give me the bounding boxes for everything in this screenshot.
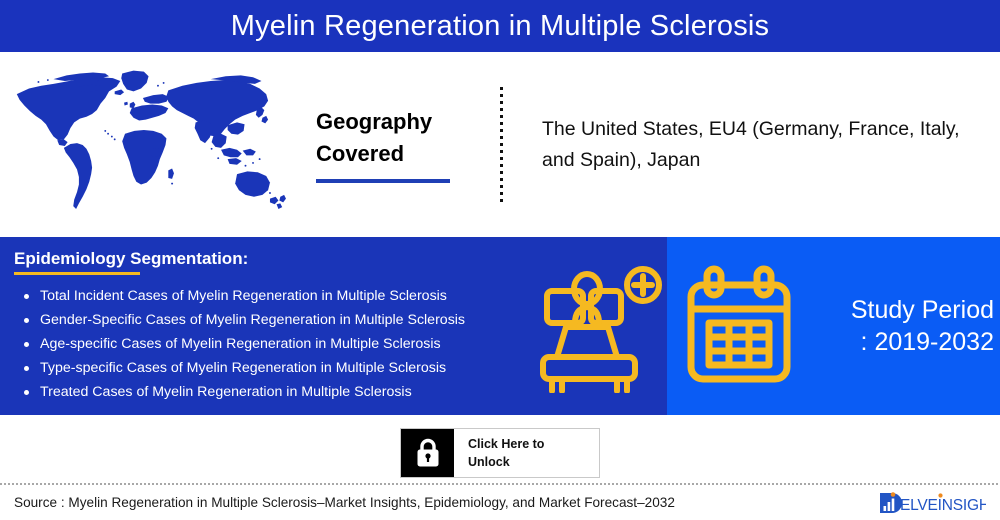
geography-label-underline: [316, 179, 450, 183]
calendar-icon: [683, 265, 795, 387]
footer: Source : Myelin Regeneration in Multiple…: [0, 485, 1000, 520]
logo-wordmark: ELVEINSIGHT: [900, 497, 986, 514]
header-bar: Myelin Regeneration in Multiple Sclerosi…: [0, 0, 1000, 52]
page-title: Myelin Regeneration in Multiple Sclerosi…: [231, 10, 770, 43]
unlock-button-label[interactable]: Click Here to Unlock: [454, 429, 599, 477]
geography-label-line2: Covered: [316, 141, 404, 166]
world-map-icon: [4, 62, 294, 227]
geography-section: Geography Covered The United States, EU4…: [0, 52, 1000, 237]
epidemiology-heading: Epidemiology Segmentation:: [14, 249, 248, 269]
geography-label: Geography Covered: [316, 106, 432, 170]
infographic-root: Myelin Regeneration in Multiple Sclerosi…: [0, 0, 1000, 520]
study-period-line2: : 2019-2032: [861, 328, 994, 356]
patient-in-hospital-bed-icon: [533, 263, 663, 393]
epidemiology-section: Epidemiology Segmentation: Total Inciden…: [0, 237, 1000, 415]
epidemiology-heading-underline: [14, 272, 140, 275]
geography-label-block: Geography Covered: [294, 106, 494, 183]
unlock-label-line2: Unlock: [468, 455, 510, 469]
geography-value: The United States, EU4 (Germany, France,…: [504, 114, 1000, 174]
source-text: Source : Myelin Regeneration in Multiple…: [0, 495, 878, 510]
delveinsight-logo: ELVEINSIGHT: [878, 490, 1000, 516]
unlock-label-line1: Click Here to: [468, 437, 544, 451]
study-period-line1: Study Period: [851, 296, 994, 324]
study-period-label: Study Period : 2019-2032: [795, 294, 1000, 358]
geography-label-line1: Geography: [316, 109, 432, 134]
epidemiology-panel: Epidemiology Segmentation: Total Inciden…: [0, 237, 667, 415]
study-period-panel: Study Period : 2019-2032: [667, 237, 1000, 415]
padlock-icon[interactable]: [401, 429, 454, 477]
unlock-button[interactable]: Click Here to Unlock: [400, 428, 600, 478]
